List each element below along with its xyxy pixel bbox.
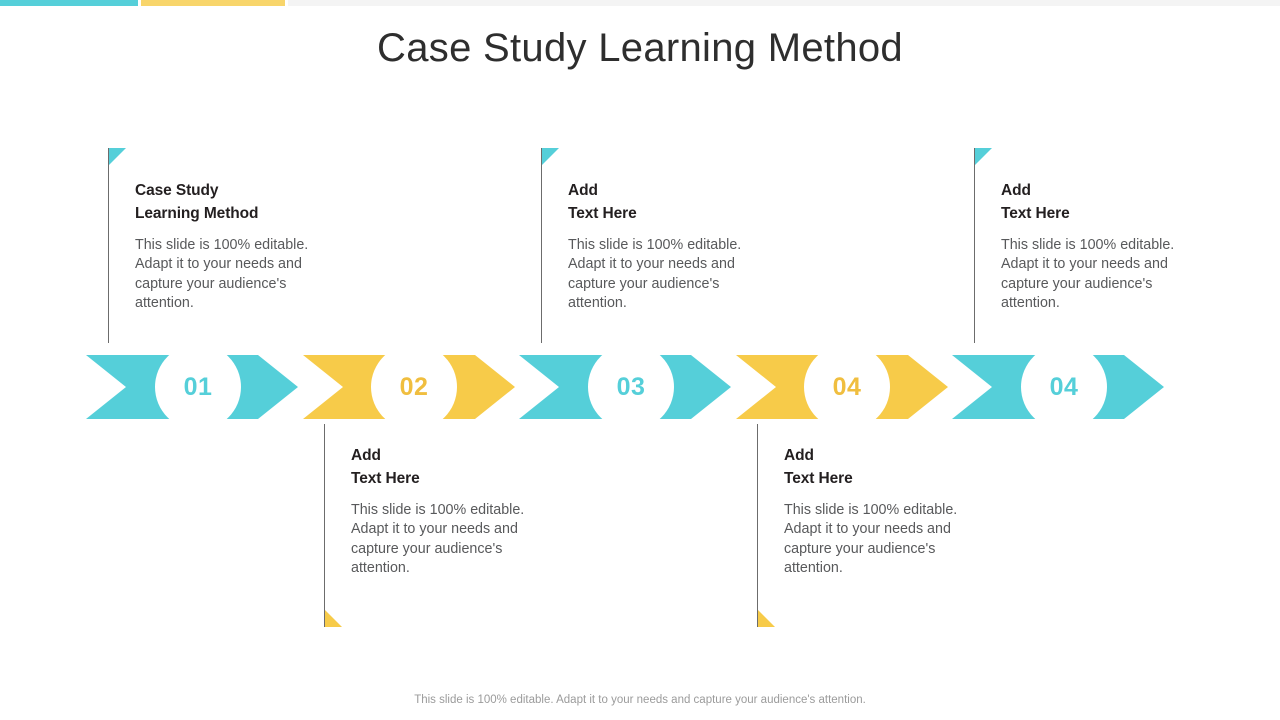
step-text-block-2: Add Text Here This slide is 100% editabl… [324, 424, 539, 627]
yellow-corner-triangle-icon [758, 610, 775, 627]
step-number-label: 01 [184, 373, 213, 402]
step-number-label: 02 [400, 373, 429, 402]
footer-note: This slide is 100% editable. Adapt it to… [0, 692, 1280, 708]
step-heading: Add Text Here [568, 179, 756, 225]
step-number-label: 03 [617, 373, 646, 402]
step-heading: Add Text Here [1001, 179, 1189, 225]
block-vertical-rule [108, 148, 109, 343]
top-accent-bar [0, 0, 1280, 6]
block-vertical-rule [324, 424, 325, 627]
top-accent-segment-yellow [141, 0, 285, 6]
step-number-circle-1[interactable]: 01 [161, 350, 235, 424]
step-heading: Add Text Here [351, 444, 539, 490]
block-vertical-rule [974, 148, 975, 343]
step-text-block-3: Add Text Here This slide is 100% editabl… [541, 148, 756, 343]
step-body: This slide is 100% editable. Adapt it to… [1001, 236, 1189, 314]
teal-corner-triangle-icon [542, 148, 559, 165]
step-body: This slide is 100% editable. Adapt it to… [135, 236, 323, 314]
block-vertical-rule [541, 148, 542, 343]
step-number-circle-2[interactable]: 02 [377, 350, 451, 424]
step-body: This slide is 100% editable. Adapt it to… [784, 501, 972, 579]
step-number-circle-5[interactable]: 04 [1027, 350, 1101, 424]
step-text-block-5: Add Text Here This slide is 100% editabl… [974, 148, 1189, 343]
page-title: Case Study Learning Method [0, 22, 1280, 74]
top-accent-segment-teal [0, 0, 138, 6]
step-number-circle-4[interactable]: 04 [810, 350, 884, 424]
step-text-block-1: Case Study Learning Method This slide is… [108, 148, 323, 343]
block-vertical-rule [757, 424, 758, 627]
step-body: This slide is 100% editable. Adapt it to… [351, 501, 539, 579]
step-number-label: 04 [833, 373, 862, 402]
step-body: This slide is 100% editable. Adapt it to… [568, 236, 756, 314]
teal-corner-triangle-icon [975, 148, 992, 165]
step-heading: Add Text Here [784, 444, 972, 490]
step-number-circle-3[interactable]: 03 [594, 350, 668, 424]
step-text-block-4: Add Text Here This slide is 100% editabl… [757, 424, 972, 627]
step-heading: Case Study Learning Method [135, 179, 323, 225]
yellow-corner-triangle-icon [325, 610, 342, 627]
step-number-label: 04 [1050, 373, 1079, 402]
teal-corner-triangle-icon [109, 148, 126, 165]
top-accent-segment-grey [288, 0, 1280, 6]
